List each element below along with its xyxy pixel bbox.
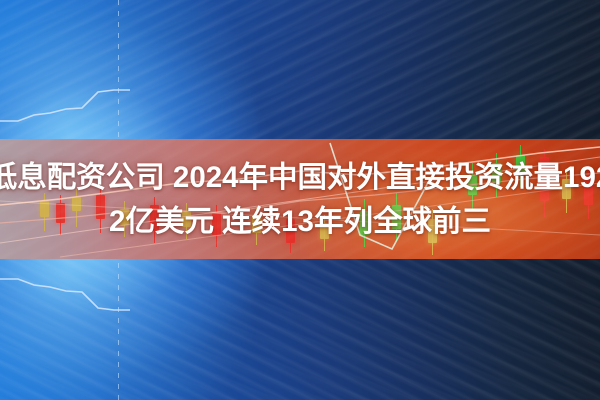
band-light-rays xyxy=(0,139,600,259)
background-blue-top xyxy=(0,0,600,142)
background-blue-bottom xyxy=(0,258,600,400)
blue-trend-polyline xyxy=(0,0,600,142)
candlestick-chart-band xyxy=(0,139,600,259)
blue-trend-polyline-mirror xyxy=(0,258,600,400)
news-banner: 低息配资公司 2024年中国对外直接投资流量192 2亿美元 连续13年列全球前… xyxy=(0,0,600,400)
